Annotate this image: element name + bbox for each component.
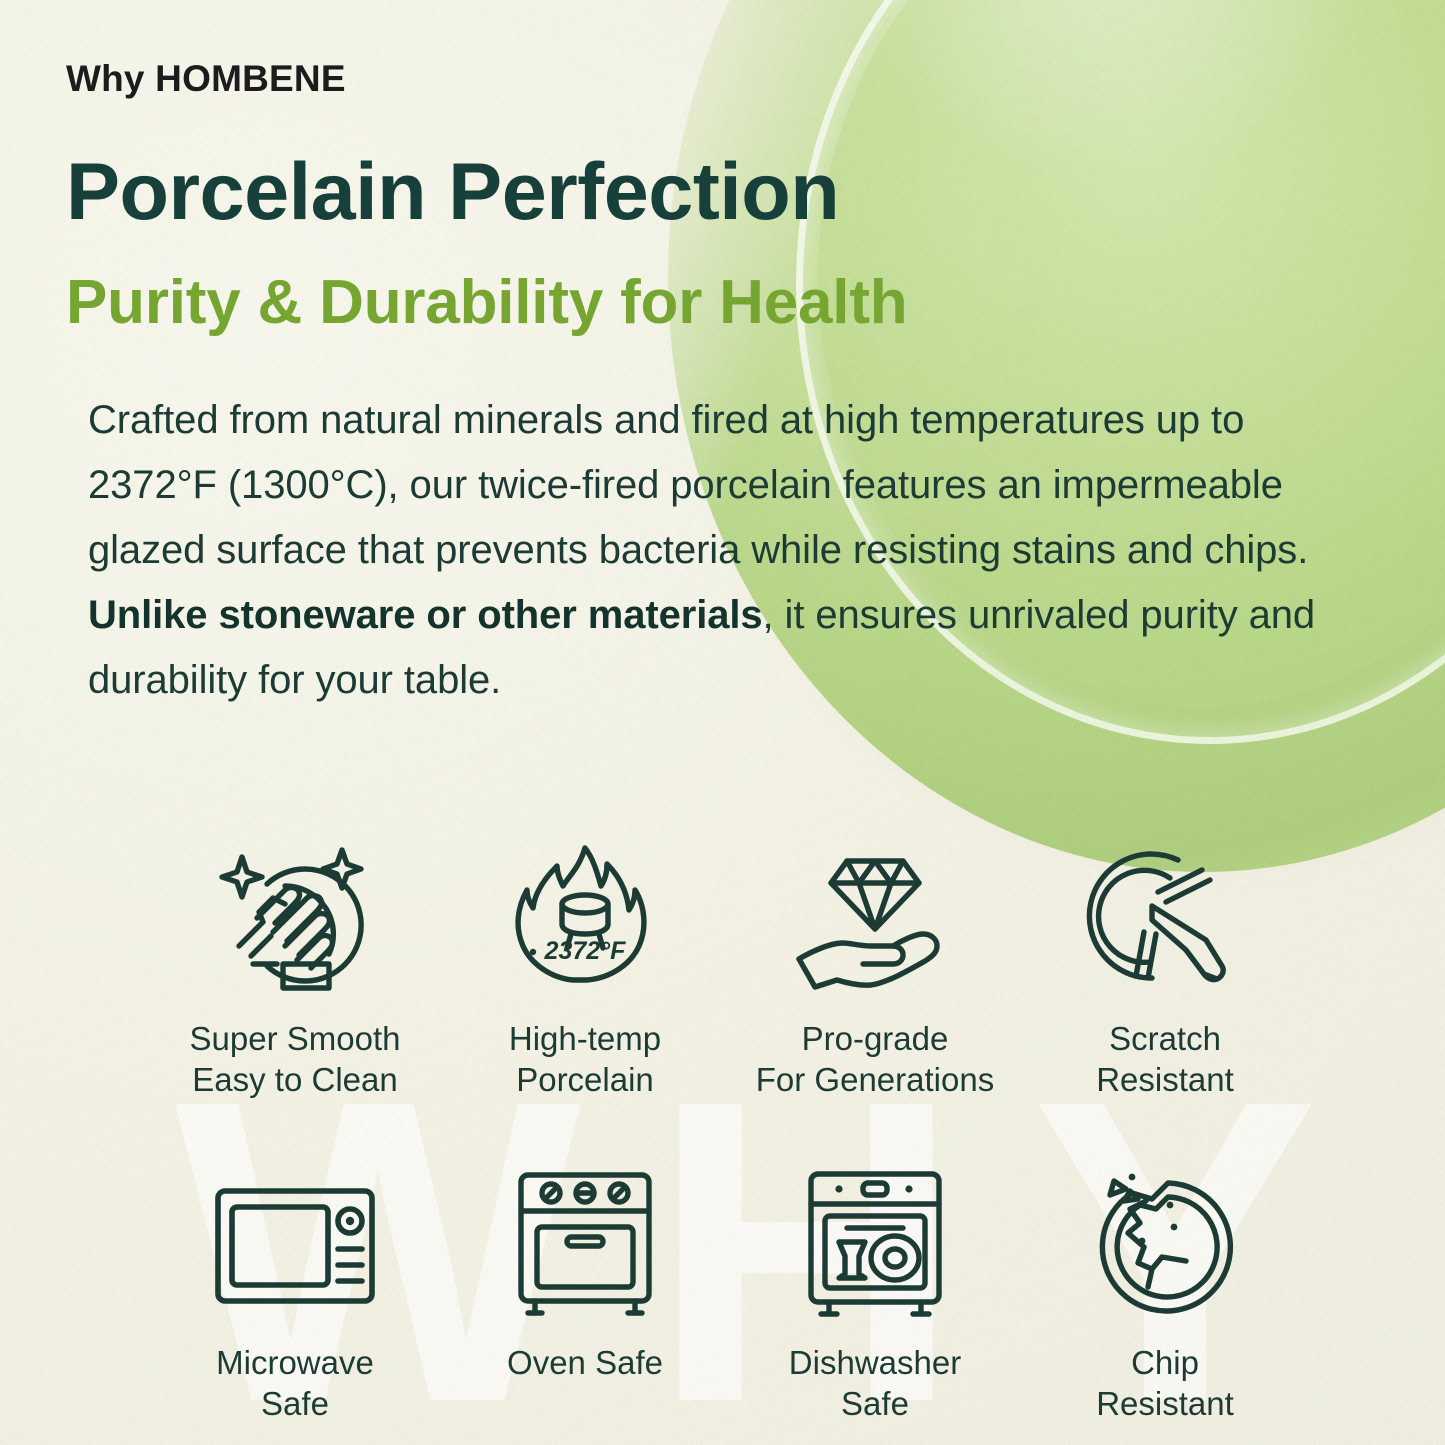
feature-oven-safe: Oven Safe (440, 1162, 730, 1383)
page-title: Porcelain Perfection (66, 152, 839, 233)
page-subtitle: Purity & Durability for Health (66, 272, 907, 334)
microwave-icon (214, 1162, 376, 1330)
feature-grid: Super Smooth Easy to Clean 2372°F High-t… (150, 838, 1310, 1424)
feature-scratch-resistant: Scratch Resistant (1020, 838, 1310, 1100)
product-infographic-poster: WHY Why HOMBENE Porcelain Perfection Pur… (0, 0, 1445, 1445)
feature-microwave-safe: Microwave Safe (150, 1162, 440, 1424)
feature-label: Oven Safe (507, 1342, 663, 1383)
feature-label: Dishwasher Safe (789, 1342, 961, 1424)
body-paragraph-2: Unlike stoneware or other materials, it … (88, 583, 1378, 713)
feature-label: Super Smooth Easy to Clean (190, 1018, 401, 1100)
feature-chip-resistant: Chip Resistant (1020, 1162, 1310, 1424)
feature-label: Chip Resistant (1096, 1342, 1234, 1424)
feature-row-2: Microwave Safe (150, 1162, 1310, 1424)
body-copy: Crafted from natural minerals and fired … (88, 388, 1378, 713)
feature-label: Pro-grade For Generations (756, 1018, 994, 1100)
knife-scratching-plate-icon (1086, 838, 1244, 1006)
temperature-badge-text: 2372°F (544, 937, 627, 965)
cracked-plate-chip-icon (1090, 1162, 1240, 1330)
hand-wiping-plate-sparkle-icon (211, 838, 379, 1006)
dishwasher-icon (805, 1162, 945, 1330)
feature-label: Scratch Resistant (1096, 1018, 1234, 1100)
body-paragraph-2-bold: Unlike stoneware or other materials (88, 593, 763, 637)
oven-icon (515, 1162, 655, 1330)
feature-high-temp: 2372°F High-temp Porcelain (440, 838, 730, 1100)
body-paragraph-1: Crafted from natural minerals and fired … (88, 388, 1378, 583)
plate-gloss-highlight (848, 0, 1368, 172)
feature-label: Microwave Safe (216, 1342, 374, 1424)
brand-eyebrow-label: Why HOMBENE (66, 58, 346, 100)
flame-kiln-temperature-icon: 2372°F (509, 838, 661, 1006)
diamond-on-hand-icon (789, 838, 961, 1006)
feature-dishwasher-safe: Dishwasher Safe (730, 1162, 1020, 1424)
feature-row-1: Super Smooth Easy to Clean 2372°F High-t… (150, 838, 1310, 1100)
feature-pro-grade: Pro-grade For Generations (730, 838, 1020, 1100)
feature-super-smooth: Super Smooth Easy to Clean (150, 838, 440, 1100)
feature-label: High-temp Porcelain (509, 1018, 661, 1100)
